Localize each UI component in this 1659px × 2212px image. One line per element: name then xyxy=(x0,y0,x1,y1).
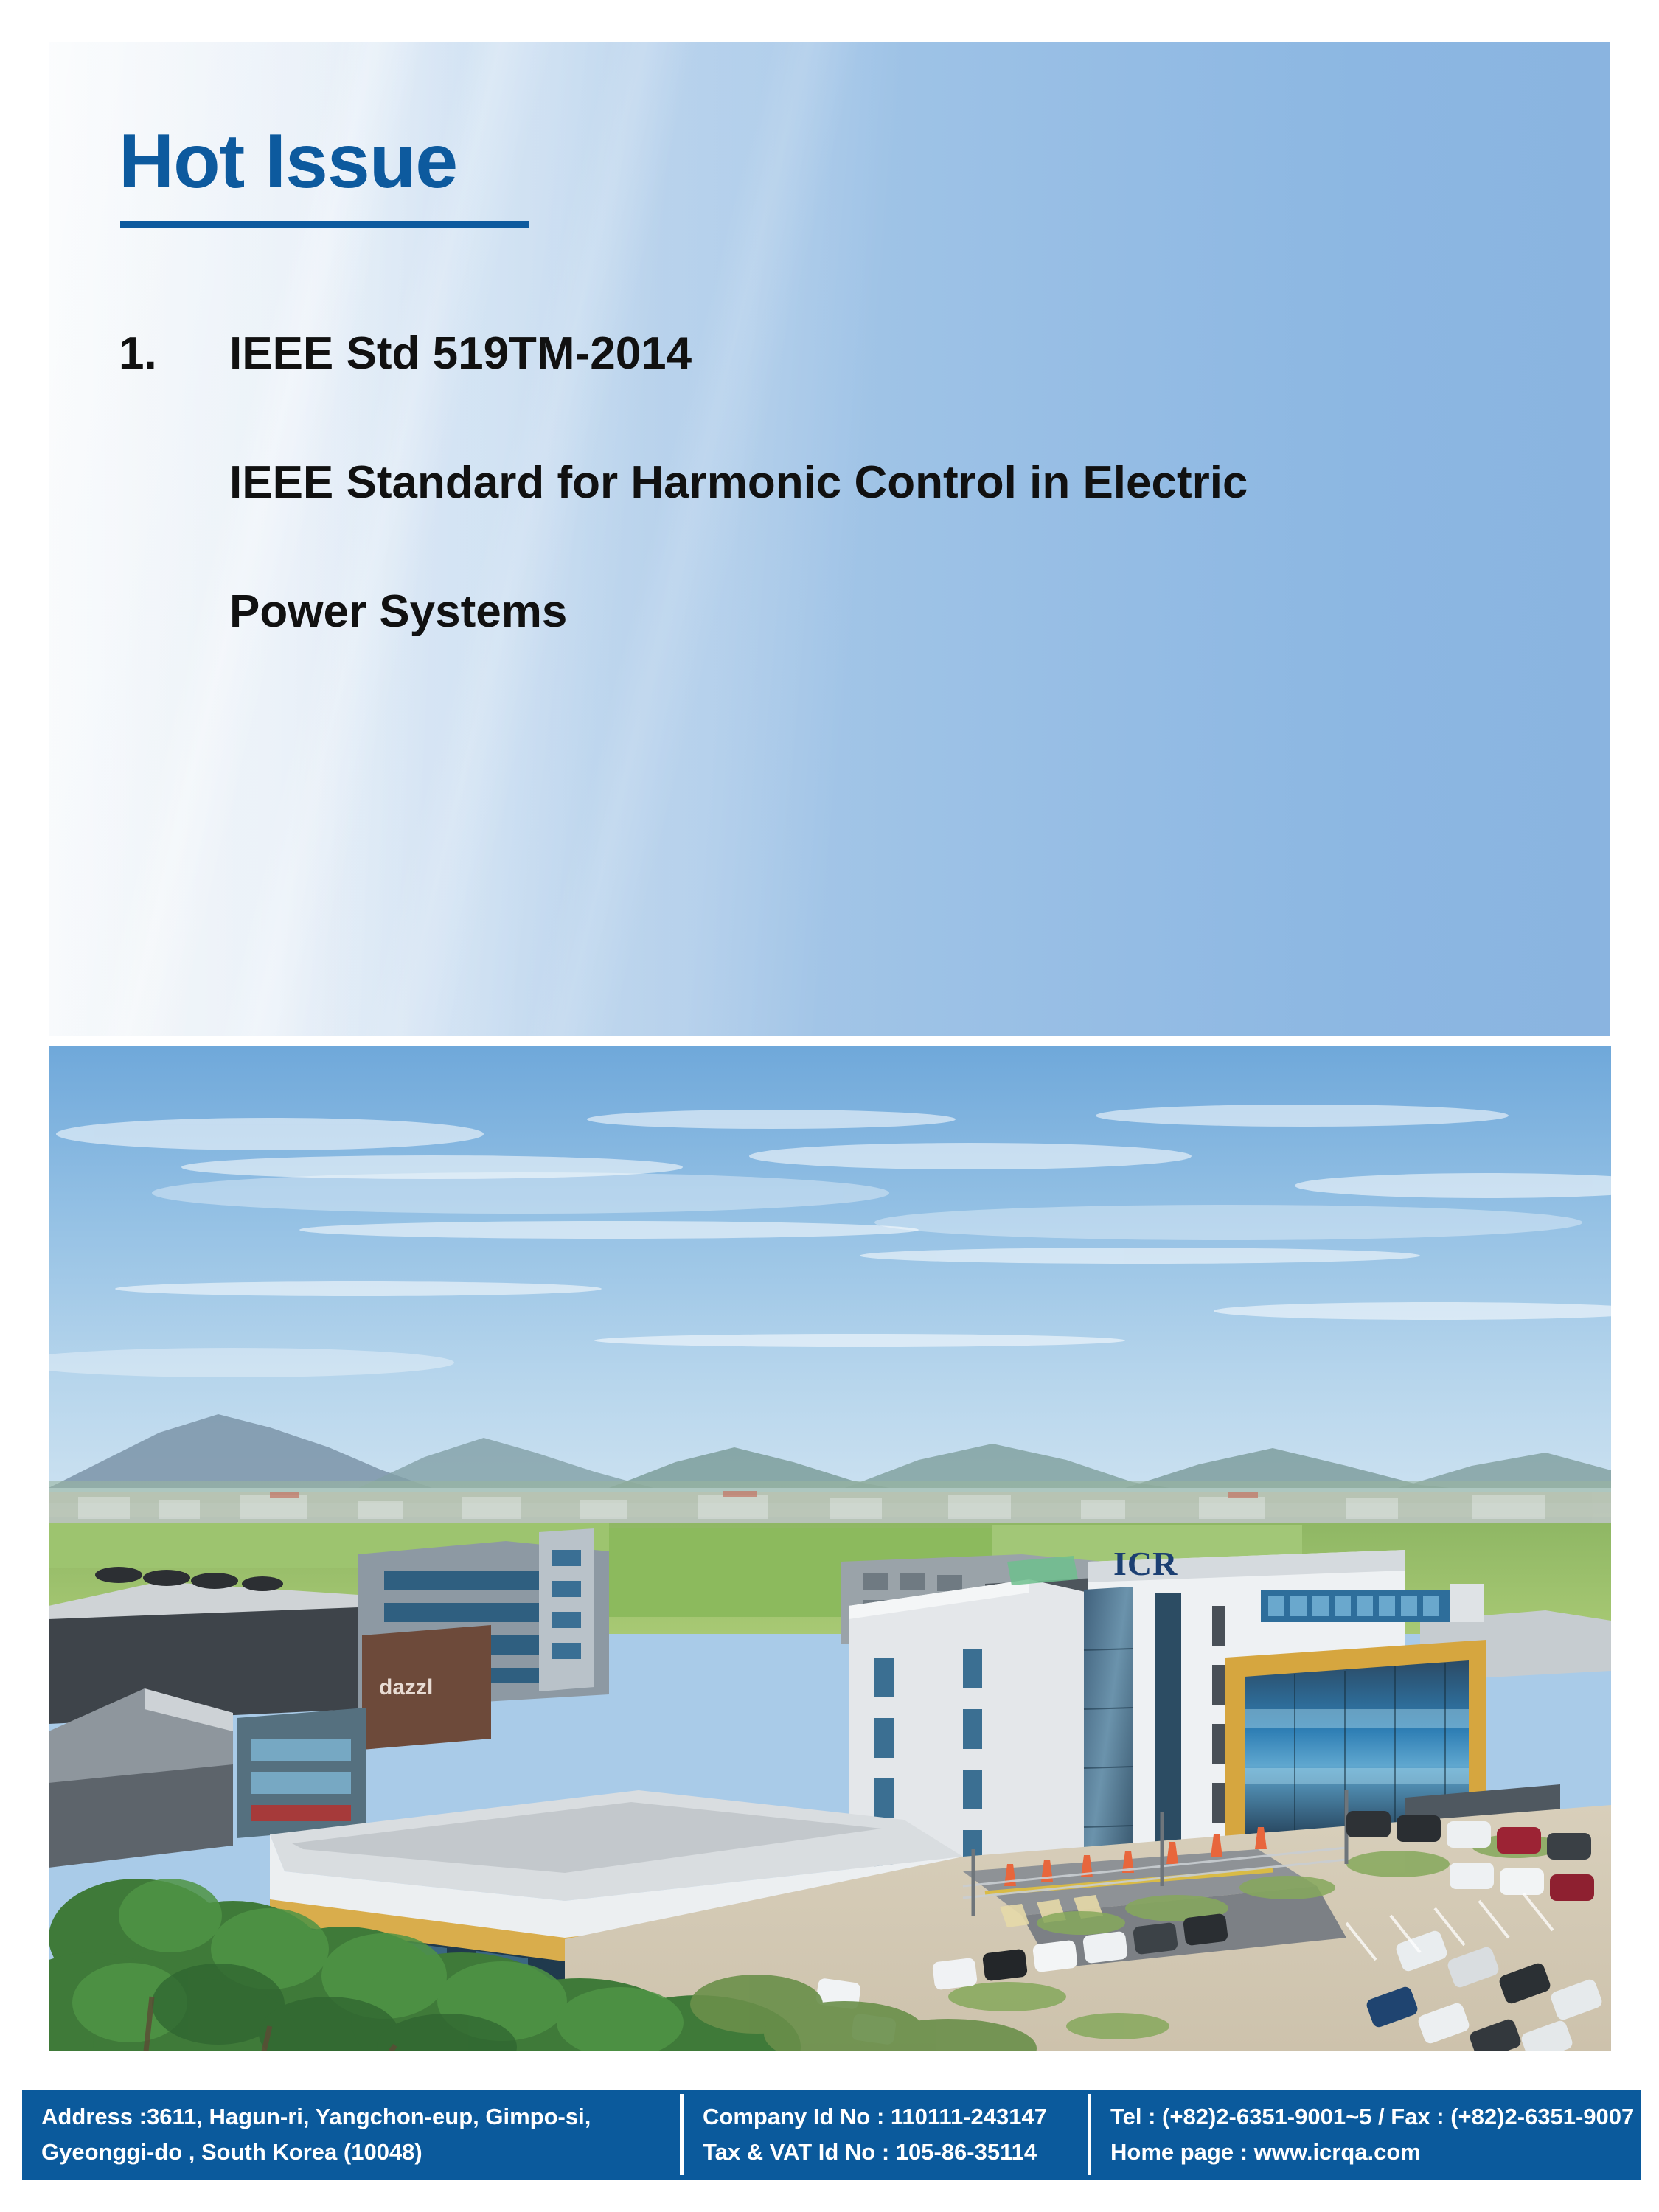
footer-company-id: Company Id No : 110111-243147 xyxy=(703,2099,1088,2135)
footer-contact-bar: Address :3611, Hagun-ri, Yangchon-eup, G… xyxy=(22,2090,1641,2180)
distant-town xyxy=(49,1491,1611,1525)
page-title: Hot Issue xyxy=(119,123,457,200)
footer-tax-vat-id: Tax & VAT Id No : 105-86-35114 xyxy=(703,2135,1088,2170)
page-title-underline xyxy=(120,221,529,228)
footer-homepage[interactable]: Home page : www.icrqa.com xyxy=(1110,2135,1641,2170)
footer-company-block: Company Id No : 110111-243147 Tax & VAT … xyxy=(684,2090,1088,2180)
hot-issue-list: 1. IEEE Std 519TM-2014 IEEE Standard for… xyxy=(119,330,1580,637)
list-item-line-1: IEEE Std 519TM-2014 xyxy=(229,330,1580,379)
list-item-marker: 1. xyxy=(119,330,229,379)
hero-panel: Hot Issue 1. IEEE Std 519TM-2014 IEEE St… xyxy=(49,42,1610,1036)
building-photograph: dazzl xyxy=(49,1046,1611,2051)
icr-building-sign: ICR xyxy=(1113,1545,1178,1582)
list-item-line-3: Power Systems xyxy=(229,588,1580,637)
list-item-line-2: IEEE Standard for Harmonic Control in El… xyxy=(229,459,1580,508)
footer-address-line-1: Address :3611, Hagun-ri, Yangchon-eup, G… xyxy=(41,2099,680,2135)
footer-contact-block: Tel : (+82)2-6351-9001~5 / Fax : (+82)2-… xyxy=(1091,2090,1641,2180)
footer-address-block: Address :3611, Hagun-ri, Yangchon-eup, G… xyxy=(22,2090,680,2180)
footer-tel-fax: Tel : (+82)2-6351-9001~5 / Fax : (+82)2-… xyxy=(1110,2099,1641,2135)
footer-address-line-2: Gyeonggi-do , South Korea (10048) xyxy=(41,2135,680,2170)
list-item: 1. IEEE Std 519TM-2014 IEEE Standard for… xyxy=(119,330,1580,637)
list-item-body: IEEE Std 519TM-2014 IEEE Standard for Ha… xyxy=(229,330,1580,637)
building-photograph-illustration: dazzl xyxy=(49,1046,1611,2051)
neighbor-building-sign: dazzl xyxy=(379,1675,433,1700)
